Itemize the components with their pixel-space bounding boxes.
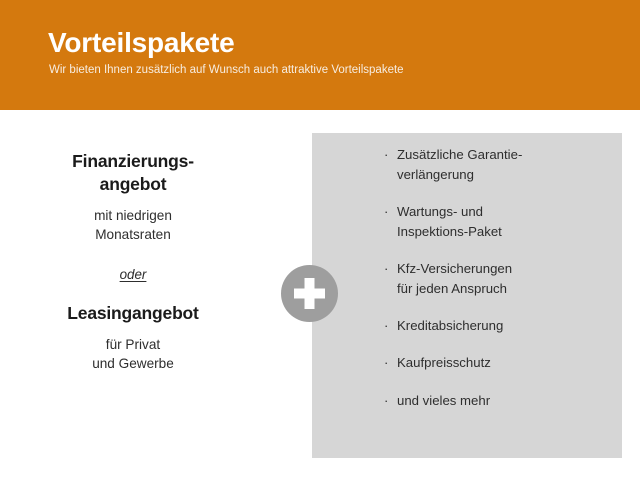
leasing-subtext: für Privat und Gewerbe <box>13 335 253 374</box>
list-item: · Kreditabsicherung <box>384 316 609 336</box>
leasing-heading: Leasingangebot <box>13 302 253 325</box>
plus-badge <box>281 265 338 322</box>
financing-heading-line1: Finanzierungs- <box>72 151 194 171</box>
list-item: · Kfz-Versicherungen für jeden Anspruch <box>384 259 609 299</box>
financing-subtext-line2: Monatsraten <box>95 227 171 242</box>
financing-offer: Finanzierungs- angebot mit niedrigen Mon… <box>13 150 253 245</box>
leasing-subtext-line2: und Gewerbe <box>92 356 174 371</box>
benefits-list: · Zusätzliche Garantie- verlängerung · W… <box>384 145 609 411</box>
offers-column: Finanzierungs- angebot mit niedrigen Mon… <box>13 150 253 374</box>
list-item-line2: für jeden Anspruch <box>397 281 507 296</box>
oder-separator: oder <box>13 267 253 282</box>
header-banner: Vorteilspakete Wir bieten Ihnen zusätzli… <box>0 0 640 110</box>
financing-heading: Finanzierungs- angebot <box>13 150 253 196</box>
list-item-line1: Kfz-Versicherungen <box>397 261 512 276</box>
bullet-icon: · <box>384 353 388 373</box>
bullet-icon: · <box>384 316 388 336</box>
bullet-icon: · <box>384 202 388 222</box>
plus-icon <box>281 265 338 322</box>
bullet-icon: · <box>384 259 388 279</box>
list-item: · Kaufpreisschutz <box>384 353 609 373</box>
list-item-line2: Inspektions-Paket <box>397 224 502 239</box>
list-item-line2: verlängerung <box>397 167 474 182</box>
list-item: · Zusätzliche Garantie- verlängerung <box>384 145 609 185</box>
list-item: · und vieles mehr <box>384 391 609 411</box>
list-item-line1: Kaufpreisschutz <box>397 355 491 370</box>
oder-label: oder <box>120 267 147 282</box>
list-item-line1: Zusätzliche Garantie- <box>397 147 522 162</box>
leasing-offer: Leasingangebot für Privat und Gewerbe <box>13 302 253 374</box>
list-item-line1: und vieles mehr <box>397 393 490 408</box>
list-item-line1: Wartungs- und <box>397 204 483 219</box>
bullet-icon: · <box>384 391 388 411</box>
list-item: · Wartungs- und Inspektions-Paket <box>384 202 609 242</box>
bullet-icon: · <box>384 145 388 165</box>
financing-subtext-line1: mit niedrigen <box>94 208 172 223</box>
page-title: Vorteilspakete <box>48 28 235 59</box>
benefits-panel: · Zusätzliche Garantie- verlängerung · W… <box>312 133 622 458</box>
financing-subtext: mit niedrigen Monatsraten <box>13 206 253 245</box>
financing-heading-line2: angebot <box>100 174 167 194</box>
slide-canvas: Vorteilspakete Wir bieten Ihnen zusätzli… <box>0 0 640 480</box>
list-item-line1: Kreditabsicherung <box>397 318 503 333</box>
leasing-subtext-line1: für Privat <box>106 337 160 352</box>
page-subtitle: Wir bieten Ihnen zusätzlich auf Wunsch a… <box>49 64 404 78</box>
